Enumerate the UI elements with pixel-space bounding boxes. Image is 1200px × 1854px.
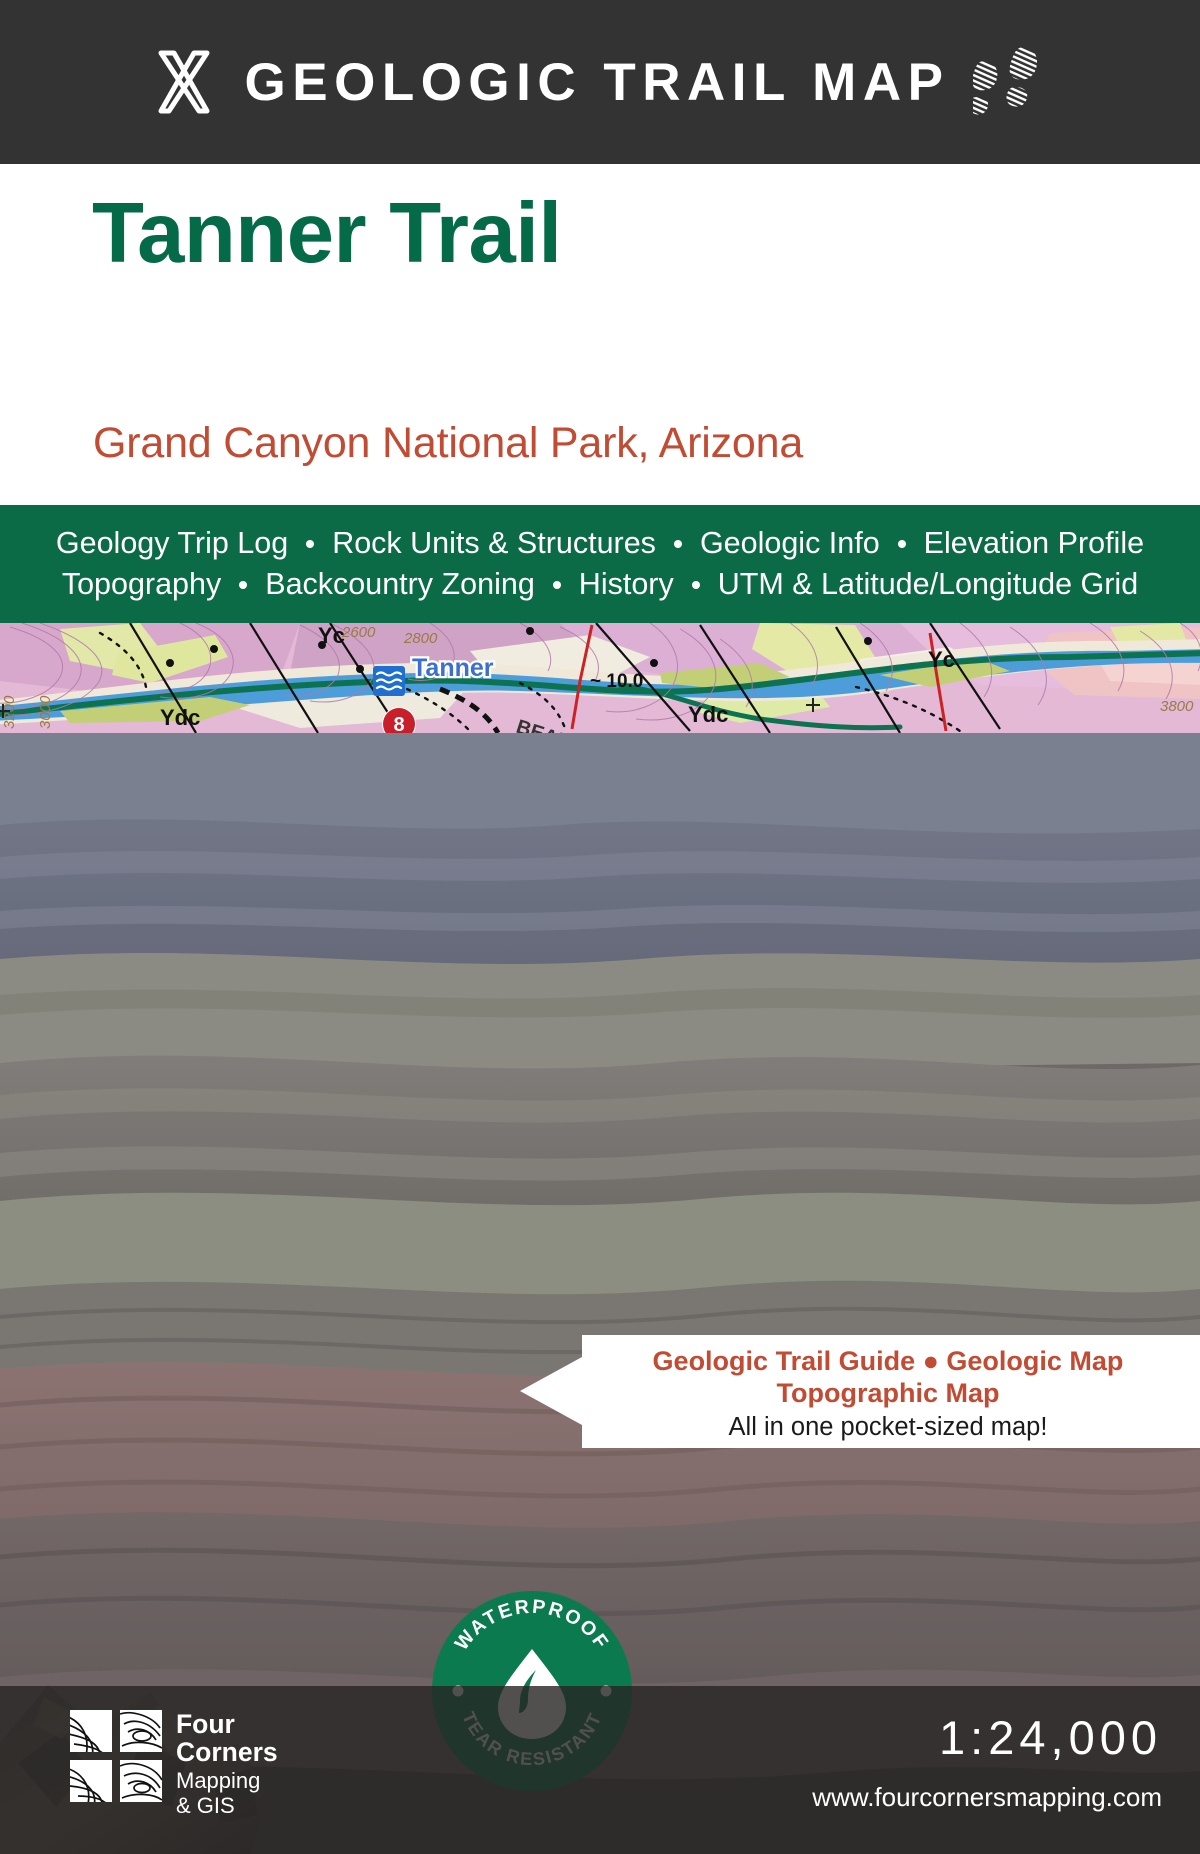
feature-item: Geologic Info <box>700 526 880 561</box>
callout-line-2: Topographic Map <box>600 1378 1176 1410</box>
header-bar: GEOLOGIC TRAIL MAP <box>0 0 1200 164</box>
logo-line-4: & GIS <box>176 1794 278 1819</box>
feature-item: Topography <box>62 567 221 602</box>
logo-text-block: Four Corners Mapping & GIS <box>176 1710 278 1818</box>
callout-line-3: All in one pocket-sized map! <box>600 1412 1176 1444</box>
separator-dot-icon <box>898 540 906 548</box>
logo-line-1: Four <box>176 1711 278 1739</box>
contour-label-2800: 2800 <box>403 630 438 647</box>
logo-line-2: Corners <box>176 1739 278 1767</box>
separator-dot-icon <box>239 581 247 589</box>
feature-item: History <box>579 567 674 602</box>
callout-banner: Geologic Trail Guide ● Geologic Map Topo… <box>520 1335 1200 1448</box>
svg-text:8: 8 <box>393 714 404 733</box>
feature-row-2: Topography Backcountry Zoning History UT… <box>62 567 1138 602</box>
feature-item: Geology Trip Log <box>56 526 288 561</box>
logo-line-3: Mapping <box>176 1769 278 1794</box>
header-title: GEOLOGIC TRAIL MAP <box>245 56 950 109</box>
separator-dot-icon <box>306 540 314 548</box>
four-corners-logo: Four Corners Mapping & GIS <box>70 1710 278 1818</box>
website-url[interactable]: www.fourcornersmapping.com <box>812 1782 1162 1813</box>
separator-dot-icon <box>692 581 700 589</box>
geologic-map-strip: 8 Tanner BEAMER Ydc Ydc Yds <box>0 623 1200 733</box>
map-label-ydc-left: Ydc <box>160 705 200 730</box>
feature-item: Rock Units & Structures <box>332 526 656 561</box>
map-scale: 1:24,000 <box>812 1712 1162 1764</box>
callout-line-1: Geologic Trail Guide ● Geologic Map <box>600 1346 1176 1378</box>
contour-label-3000: 3000 <box>37 695 54 729</box>
page-title: Tanner Trail <box>92 189 562 278</box>
feature-item: Backcountry Zoning <box>265 567 535 602</box>
map-cover: GEOLOGIC TRAIL MAP <box>0 0 1200 1854</box>
map-label-yc-left: Yc <box>318 623 345 648</box>
contour-label-3800: 3800 <box>1160 698 1194 715</box>
map-label-yc-right: Yc <box>928 647 955 672</box>
map-label-tanner: Tanner <box>412 654 494 682</box>
separator-dot-icon <box>553 581 561 589</box>
page-subtitle: Grand Canyon National Park, Arizona <box>93 419 803 468</box>
feature-item: Elevation Profile <box>924 526 1144 561</box>
crossed-rock-hammers-icon <box>147 45 221 119</box>
feature-band: Geology Trip Log Rock Units & Structures… <box>0 505 1200 623</box>
title-block: Tanner Trail Grand Canyon National Park,… <box>0 164 1200 505</box>
separator-dot-icon <box>674 540 682 548</box>
boot-prints-icon <box>973 42 1053 122</box>
feature-row-1: Geology Trip Log Rock Units & Structures… <box>56 526 1144 561</box>
river-rapids-icon <box>373 666 405 696</box>
bottom-bar: Four Corners Mapping & GIS 1:24,000 www.… <box>0 1686 1200 1854</box>
four-corners-contour-logo-icon <box>70 1710 162 1802</box>
scale-and-url: 1:24,000 www.fourcornersmapping.com <box>812 1712 1162 1813</box>
map-label-mileage: ~ 10.0 <box>590 671 643 692</box>
feature-item: UTM & Latitude/Longitude Grid <box>718 567 1138 602</box>
contour-label-2600: 2600 <box>341 624 376 641</box>
map-label-ydc-right: Ydc <box>688 702 728 727</box>
